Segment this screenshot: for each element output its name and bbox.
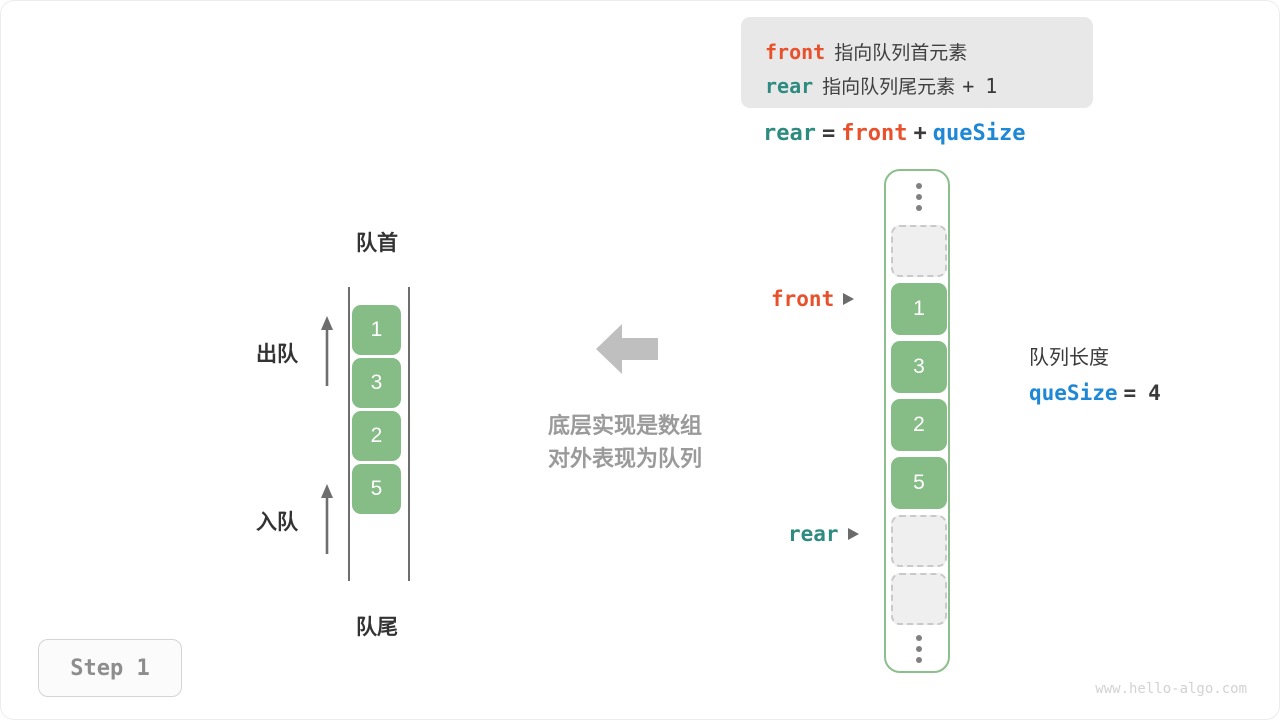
front-pointer-text: front	[771, 287, 834, 311]
queue-cell-1: 1	[352, 305, 401, 355]
arrow-up-icon-dequeue	[320, 316, 334, 386]
arrow-up-icon-enqueue	[320, 484, 334, 554]
arrow-right-icon	[843, 293, 854, 305]
queue-head-label: 队首	[347, 227, 407, 257]
array-cell-value: 1	[913, 297, 925, 321]
array-cell-value: 5	[913, 471, 925, 495]
legend-rear-one: 1	[974, 74, 997, 98]
step-badge: Step 1	[38, 639, 182, 697]
queue-cell-3: 2	[352, 411, 401, 461]
rear-pointer-label: rear	[788, 522, 859, 546]
watermark: www.hello-algo.com	[1095, 681, 1247, 697]
queue-cell-value: 2	[371, 424, 383, 448]
enqueue-label: 入队	[256, 506, 298, 536]
vertical-ellipsis-icon-bottom	[886, 629, 952, 669]
queue-tail-label: 队尾	[347, 611, 407, 641]
queue-cell-4: 5	[352, 464, 401, 514]
legend-rear-plus: +	[962, 74, 974, 98]
front-pointer-label: front	[771, 287, 854, 311]
diagram-canvas: front指向队列首元素 rear指向队列尾元素+1 rear=front+qu…	[0, 0, 1280, 720]
rear-formula: rear=front+queSize	[763, 121, 1025, 146]
array-cell-value: 3	[913, 355, 925, 379]
vertical-ellipsis-icon-top	[886, 177, 952, 217]
array-cell-empty-below	[891, 573, 947, 625]
arrow-right-icon	[848, 528, 859, 540]
array-cell-index-rear	[891, 515, 947, 567]
formula-rear: rear	[763, 121, 816, 146]
center-caption-line1: 底层实现是数组	[529, 409, 721, 442]
array-cell-empty-above	[891, 225, 947, 277]
formula-quesize: queSize	[933, 121, 1026, 146]
legend-rear-keyword: rear	[765, 74, 813, 98]
quesize-expression: queSize=4	[1029, 381, 1167, 405]
quesize-annotation: 队列长度 queSize=4	[1029, 341, 1167, 405]
quesize-equals: =	[1118, 381, 1143, 405]
array-cell-4: 5	[891, 457, 947, 509]
legend-front-keyword: front	[765, 40, 825, 64]
quesize-title: 队列长度	[1029, 341, 1167, 370]
queue-rail-left	[348, 287, 350, 581]
queue-rail-right	[408, 287, 410, 581]
rear-pointer-text: rear	[788, 522, 839, 546]
queue-cell-value: 1	[371, 318, 383, 342]
queue-cell-value: 3	[371, 371, 383, 395]
queue-cell-value: 5	[371, 477, 383, 501]
center-caption-line2: 对外表现为队列	[529, 442, 721, 475]
left-arrow-icon	[596, 323, 658, 375]
queue-cell-2: 3	[352, 358, 401, 408]
legend-line-front: front指向队列首元素	[765, 38, 974, 65]
array-cell-index-front: 1	[891, 283, 947, 335]
array-column: 1 3 2 5	[884, 169, 950, 673]
dequeue-label: 出队	[256, 338, 298, 368]
legend-front-description: 指向队列首元素	[825, 43, 974, 64]
quesize-value: 4	[1142, 381, 1167, 405]
formula-front: front	[841, 121, 907, 146]
legend-rear-description: 指向队列尾元素	[813, 77, 962, 98]
quesize-variable: queSize	[1029, 381, 1118, 405]
center-caption: 底层实现是数组 对外表现为队列	[529, 409, 721, 475]
legend-line-rear: rear指向队列尾元素+1	[765, 72, 997, 99]
array-cell-value: 2	[913, 413, 925, 437]
array-cell-2: 3	[891, 341, 947, 393]
formula-plus: +	[907, 121, 932, 146]
pointer-legend-box: front指向队列首元素 rear指向队列尾元素+1	[741, 17, 1093, 108]
array-cell-3: 2	[891, 399, 947, 451]
formula-equals: =	[816, 121, 841, 146]
